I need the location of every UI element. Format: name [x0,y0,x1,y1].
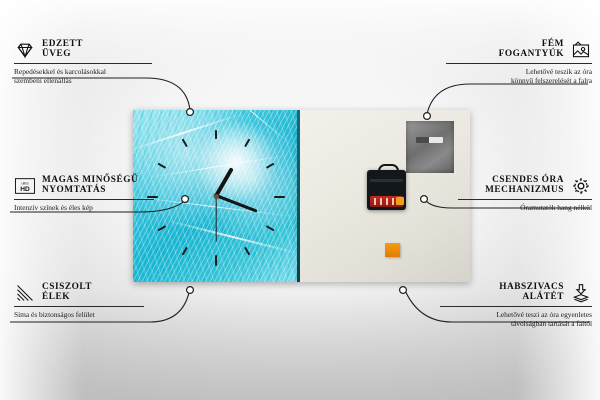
divider [14,306,144,307]
diamond-icon [14,40,36,60]
foam-pad [385,243,400,257]
product-image [133,110,470,282]
clock-minute-hand [214,194,258,213]
callout-title-line2: FOGANTYÚK [499,50,564,60]
polished-edges-icon [14,283,36,303]
callout-sub-line1: Repedésekkel és karcolásokkal [14,67,152,76]
callout-polished-edges: CSISZOLT ÉLEK Sima és biztonságos felüle… [14,283,144,319]
divider [446,63,592,64]
divider [14,63,152,64]
callout-sub-line1: Lehetővé teszik az óra [446,67,592,76]
callout-sub-line2: szembeni ellenállás [14,76,152,85]
picture-hanger-icon [570,40,592,60]
clock-dial [133,110,299,282]
clock-front-panel [133,110,299,282]
connector-node [400,287,407,294]
callout-title-line2: ÉLEK [42,293,70,303]
divider [440,306,592,307]
callout-title-line2: ÜVEG [42,50,71,60]
foam-pad-icon [570,283,592,303]
callout-sub-line1: Lehetővé teszi az óra egyenletes [440,310,592,319]
callout-high-quality-print: ultraHD MAGAS MINŐSÉGŰ NYOMTATÁS Intenzí… [14,176,154,212]
callout-silent-mechanism: CSENDES ÓRA MECHANIZMUS Óramutatók hang … [458,176,592,212]
ultra-hd-icon: ultraHD [14,176,36,196]
divider [14,199,154,200]
metal-hanger-plate [406,121,454,173]
callout-metal-handles: FÉM FOGANTYÚK Lehetővé teszik az óra kön… [446,40,592,85]
callout-foam-pad: HABSZIVACS ALÁTÉT Lehetővé teszi az óra … [440,283,592,328]
callout-sub-line2: távolságban tartását a faltól [440,319,592,328]
infographic-canvas: EDZETT ÜVEG Repedésekkel és karcolásokka… [0,0,600,400]
callout-title-line2: MECHANIZMUS [485,186,564,196]
clock-back-panel [299,110,470,282]
callout-title-line2: ALÁTÉT [522,293,564,303]
divider [458,199,592,200]
clock-center-pin [214,194,219,199]
connector-node [187,287,194,294]
svg-text:ultra: ultra [21,182,29,186]
svg-text:HD: HD [20,186,30,193]
callout-tempered-glass: EDZETT ÜVEG Repedésekkel és karcolásokka… [14,40,152,85]
clock-second-hand [215,194,216,242]
callout-sub-line2: könnyű felszerelését a falra [446,76,592,85]
panel-seam [297,110,300,282]
callout-sub-line1: Óramutatók hang nélkül [458,203,592,212]
callout-sub-line1: Sima és biztonságos felület [14,310,144,319]
clock-mechanism [367,170,406,210]
callout-title-line2: NYOMTATÁS [42,186,106,196]
callout-sub-line1: Intenzív színek és éles kép [14,203,154,212]
gear-icon [570,176,592,196]
